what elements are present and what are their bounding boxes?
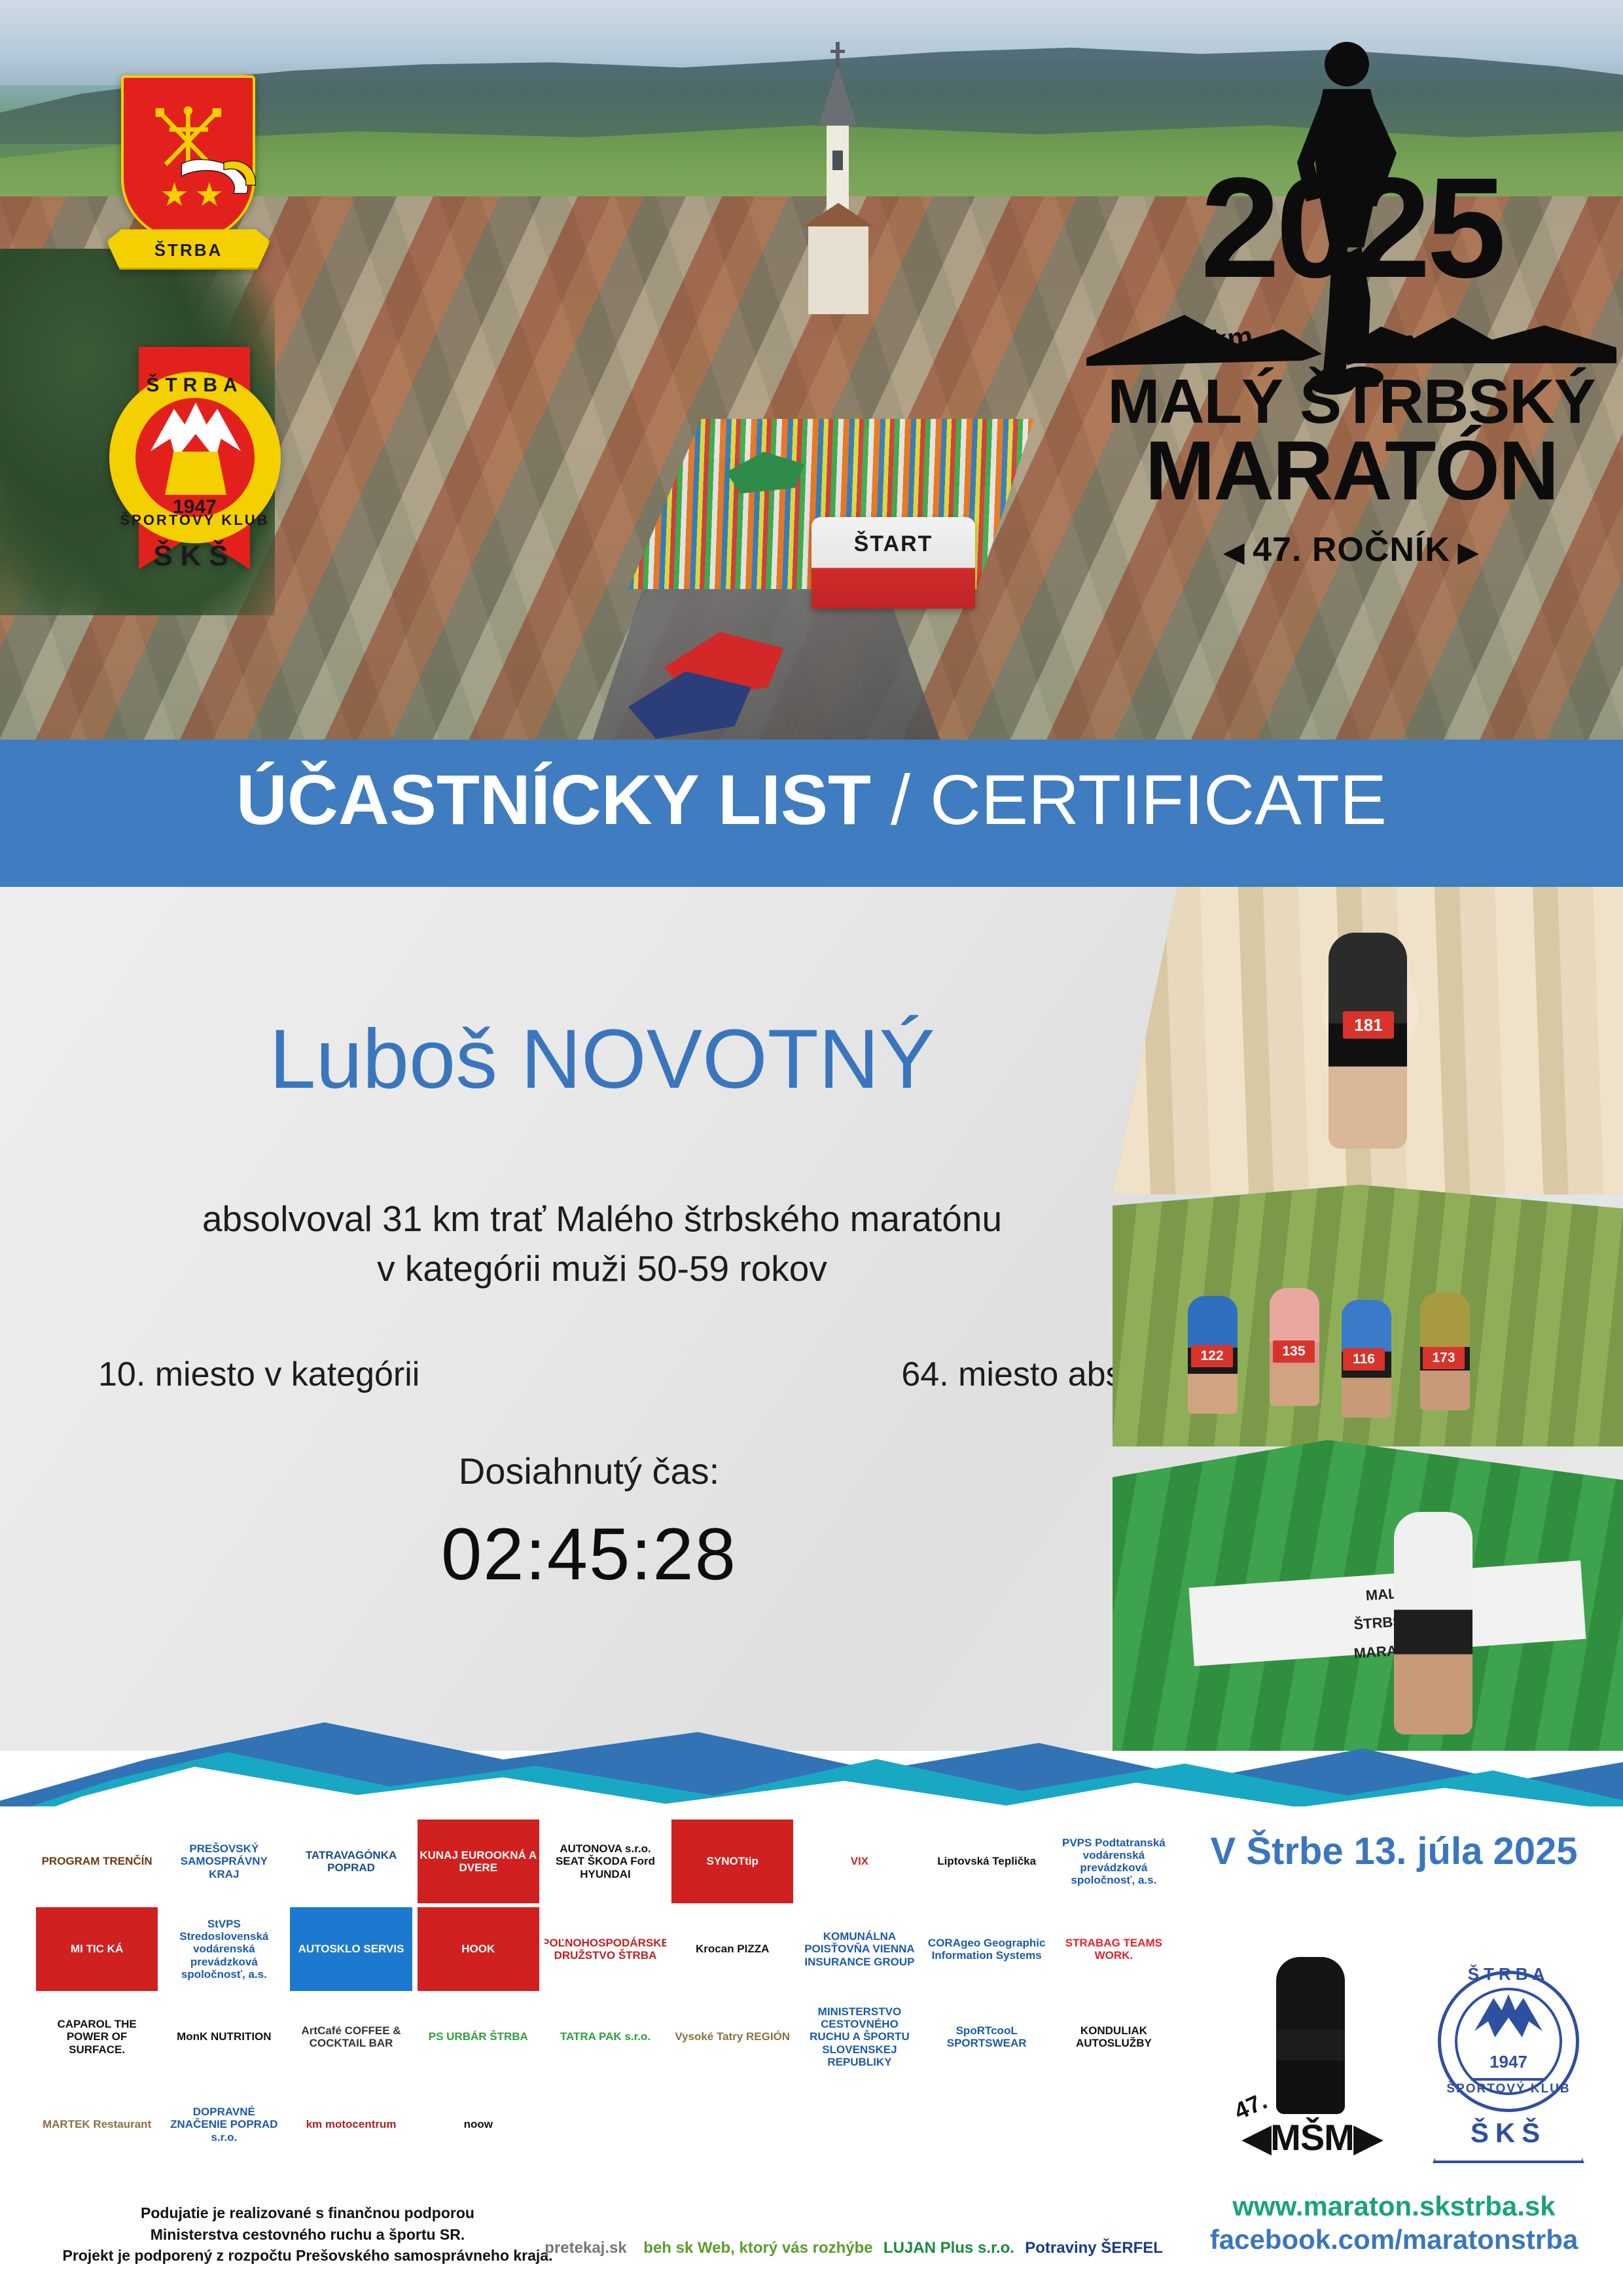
msm-logo: 47. ◀MŠM▶ [1230,1954,1394,2176]
category-place: 10. miesto v kategórii [98,1355,419,1394]
mountain-silhouette: 31 km 10 km [1086,298,1616,370]
sponsor-logo: PS URBÁR ŠTRBA [418,1995,539,2079]
sponsor-logo: PROGRAM TRENČÍN [36,1820,158,1903]
time-value: 02:45:28 [131,1512,1047,1596]
strba-coat-of-arms: ŠTRBA [121,75,255,242]
sponsor-logo: StVPS Stredoslovenská vodárenská prevádz… [163,1907,285,1991]
bib-number: 181 [1343,1011,1394,1039]
bib-number: 116 [1343,1348,1385,1371]
sponsor-logo: MINISTERSTVO CESTOVNÉHO RUCHU A ŠPORTU S… [798,1995,920,2079]
hero-photo-banner: ŠTART ŠTRBA ŠTRBA [0,0,1623,743]
club-bottom-text: ŠPORTOVÝ KLUB [105,512,285,529]
funding-disclaimer: Podujatie je realizované s finančnou pod… [46,2202,569,2267]
sponsor-logo: TATRA PAK s.r.o. [544,1995,666,2079]
sponsor-logo: KOMUNÁLNA POISŤOVŇA VIENNA INSURANCE GRO… [798,1907,920,1991]
sponsor-logo: VIX [798,1820,920,1903]
runner-silhouette-icon [1276,1957,1345,2114]
sponsor-logo: KUNAJ EUROOKNÁ A DVERE [418,1820,539,1903]
sks-mid-text: ŠPORTOVÝ KLUB [1423,2082,1594,2096]
race-edition-label: 47. ROČNÍK [1253,531,1450,569]
bottom-sponsor-row: pretekaj.skbeh sk Web, ktorý vás rozhýbe… [537,2212,1165,2284]
race-edition: ◀ 47. ROČNÍK ▶ [1080,530,1623,569]
sponsor-logo: POĽNOHOSPODÁRSKE DRUŽSTVO ŠTRBA [544,1907,666,1991]
sponsor-logo: AUTOSKLO SERVIS [290,1907,412,1991]
race-finish-banner: MALÝ ŠTRBSKÝ MARATÓN [1189,1560,1586,1666]
disclaimer-line-2: Ministerstva cestovného ruchu a športu S… [46,2224,569,2246]
title-slovak: ÚČASTNÍCKY LIST [236,760,871,839]
sks-top-text: ŠTRBA [1423,1964,1594,1984]
start-arch-label: ŠTART [811,531,975,557]
bib-number: 173 [1423,1347,1465,1369]
title-english: CERTIFICATE [930,760,1387,839]
sponsor-logo: PVPS Podtatranská vodárenská prevádzková… [1053,1820,1175,1903]
description-line-1: absolvoval 31 km trať Malého štrbského m… [79,1194,1126,1244]
sponsor-logo: HOOK [418,1907,539,1991]
sponsor-logo: ArtCafé COFFEE & COCKTAIL BAR [290,1995,412,2079]
disclaimer-line-3: Projekt je podporený z rozpočtu Prešovsk… [46,2245,569,2267]
sponsor-logo: Potraviny ŠERFEL [1023,2212,1165,2284]
club-top-text: ŠTRBA [105,374,285,397]
website-link[interactable]: www.maraton.skstrba.sk [1171,2189,1616,2223]
sponsor-logo: CORAgeo Geographic Information Systems [926,1907,1048,1991]
sponsor-logo: MI TIC KÁ [36,1907,158,1991]
coat-banner-label: ŠTRBA [107,224,270,270]
female-runner-figure [1329,933,1407,1149]
sponsor-logo: PREŠOVSKÝ SAMOSPRÁVNY KRAJ [163,1820,285,1903]
sponsor-logo: Liptovská Teplička [926,1820,1048,1903]
date-and-place: V Štrbe 13. júla 2025 [1178,1829,1610,1873]
race-title-line2: MARATÓN [1080,431,1623,511]
time-label: Dosiahnutý čas: [131,1450,1047,1492]
sks-year: 1947 [1423,2052,1594,2072]
sponsor-logo: Vysoké Tatry REGIÓN [671,1995,793,2079]
sponsor-logo: noow [418,2083,539,2166]
sponsor-logo: CAPAROL THE POWER OF SURFACE. [36,1995,158,2079]
race-title: MALÝ ŠTRBSKÝ MARATÓN [1080,372,1623,511]
start-arch: ŠTART [811,517,975,609]
sks-initials: ŠKŠ [1423,2117,1594,2149]
sponsor-logo: MonK NUTRITION [163,1995,285,2079]
description-line-2: v kategórii muži 50-59 rokov [79,1244,1126,1294]
achievement-description: absolvoval 31 km trať Malého štrbského m… [79,1194,1126,1294]
facebook-link[interactable]: facebook.com/maratonstrba [1171,2223,1616,2256]
contact-links: www.maraton.skstrba.sk facebook.com/mara… [1171,2189,1616,2256]
sponsor-logo: KONDULIAK AUTOSLUŽBY [1053,1995,1175,2079]
sponsor-logo: LUJAN Plus s.r.o. [882,2212,1016,2284]
sponsor-logo: Krocan PIZZA [671,1907,793,1991]
church-tower-icon [802,39,874,314]
certificate-title: ÚČASTNÍCKY LIST / CERTIFICATE [0,764,1623,835]
participant-name: Luboš NOVOTNÝ [92,1011,1113,1107]
sponsor-logo: DOPRAVNÉ ZNAČENIE POPRAD s.r.o. [163,2083,285,2166]
sponsor-logo: km motocentrum [290,2083,412,2166]
trail-photo: 122 135 116 173 [1113,1185,1623,1446]
certificate-title-banner: ÚČASTNÍCKY LIST / CERTIFICATE [0,740,1623,887]
race-logo: 2025 31 km 10 km MALÝ ŠTRBSKÝ MARATÓN ◀ … [1080,26,1623,602]
club-initials: ŠKŠ [105,540,285,573]
sponsor-logo: TATRAVAGÓNKA POPRAD [290,1820,412,1903]
sponsor-logo: SpoRTcooL SPORTSWEAR [926,1995,1048,2079]
bib-number: 122 [1191,1345,1233,1367]
bib-number: 135 [1273,1340,1315,1363]
sponsor-logo: SYNOTtip [671,1820,793,1903]
race-year: 2025 [1080,157,1623,300]
sponsor-grid: PROGRAM TRENČÍNPREŠOVSKÝ SAMOSPRÁVNY KRA… [36,1820,1175,2166]
sponsor-logo: pretekaj.sk [537,2212,635,2284]
photo-collage: 181 122 135 116 173 MALÝ ŠTRBSKÝ MARATÓN [1113,887,1623,1751]
placement-row: 10. miesto v kategórii 64. miesto abs. [98,1355,1132,1394]
title-separator: / [871,760,930,839]
msm-initials: ◀MŠM▶ [1230,2116,1394,2159]
sponsor-logo: MARTEK Restaurant [36,2083,158,2166]
disclaimer-line-1: Podujatie je realizované s finančnou pod… [46,2202,569,2224]
club-base-shape [165,452,226,495]
absolute-place: 64. miesto abs. [901,1355,1132,1394]
sponsor-logo: AUTONOVA s.r.o. SEAT ŠKODA Ford HYUNDAI [544,1820,666,1903]
finish-photo: 181 [1113,887,1623,1194]
sponsor-logo: beh sk Web, ktorý vás rozhýbe [641,2212,874,2284]
sks-footer-logo: ŠTRBA 1947 ŠPORTOVÝ KLUB ŠKŠ [1423,1954,1594,2176]
sponsor-logo: STRABAG TEAMS WORK. [1053,1907,1175,1991]
sks-club-badge: ŠTRBA 1947 ŠPORTOVÝ KLUB ŠKŠ [105,340,285,576]
hand-and-horn-icon [180,132,263,209]
